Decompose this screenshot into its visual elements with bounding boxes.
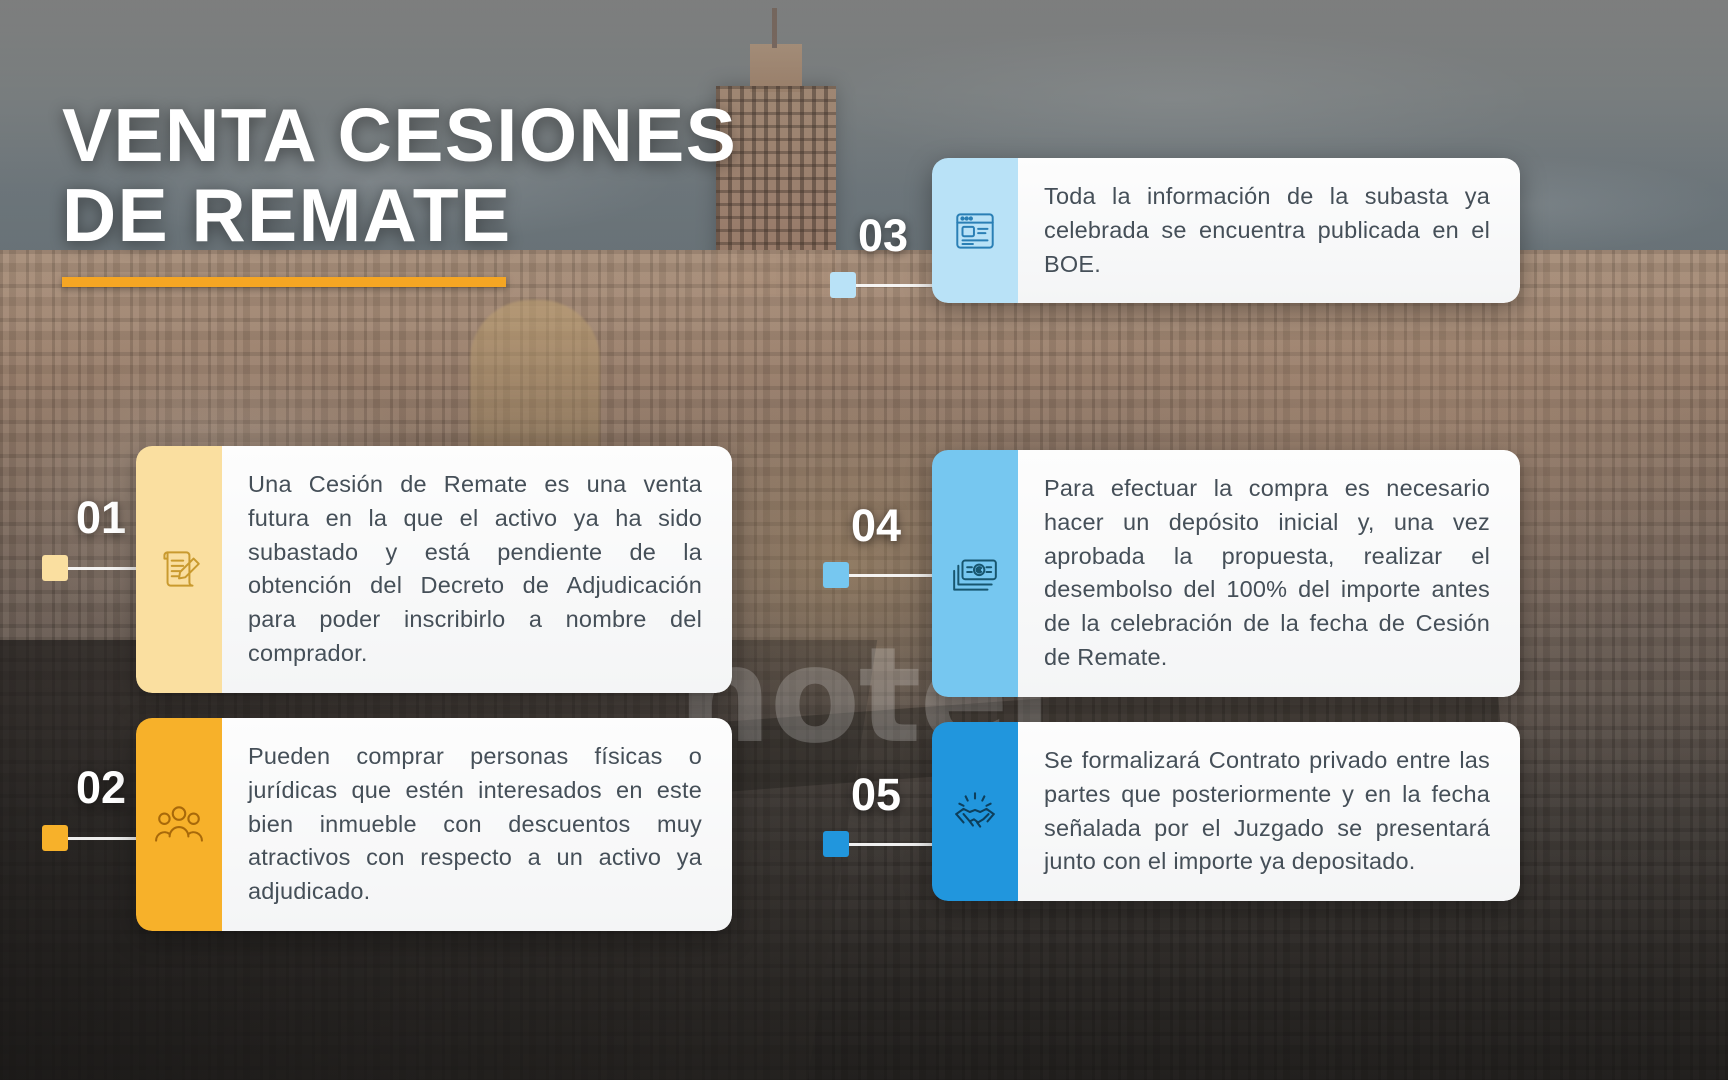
step-marker-05: 05 <box>845 772 945 858</box>
marker-dot-02 <box>42 825 68 851</box>
info-card-03[interactable]: Toda la información de la subasta ya cel… <box>932 158 1520 303</box>
step-number-01: 01 <box>76 495 126 540</box>
scroll-pencil-icon <box>154 544 204 594</box>
card-03-text: Toda la información de la subasta ya cel… <box>1044 180 1490 281</box>
infographic-slide: hotel VENTA CESIONES DE REMATE 01 <box>0 0 1728 1080</box>
card-01-body: Una Cesión de Remate es una venta futura… <box>222 446 732 693</box>
step-number-03: 03 <box>858 213 908 258</box>
card-04-body: Para efectuar la compra es necesario hac… <box>1018 450 1520 697</box>
browser-window-icon <box>950 206 1000 256</box>
card-02-body: Pueden comprar personas físicas o jurídi… <box>222 718 732 931</box>
card-05-body: Se formalizará Contrato privado entre la… <box>1018 722 1520 901</box>
info-card-01[interactable]: Una Cesión de Remate es una venta futura… <box>136 446 732 693</box>
handshake-icon <box>950 787 1000 837</box>
title-line-2: DE REMATE <box>62 176 737 256</box>
people-group-icon <box>154 800 204 850</box>
card-02-icon-pane <box>136 718 222 931</box>
card-03-body: Toda la información de la subasta ya cel… <box>1018 158 1520 303</box>
info-card-04[interactable]: Para efectuar la compra es necesario hac… <box>932 450 1520 697</box>
marker-dot-01 <box>42 555 68 581</box>
info-card-05[interactable]: Se formalizará Contrato privado entre la… <box>932 722 1520 901</box>
card-04-text: Para efectuar la compra es necesario hac… <box>1044 472 1490 675</box>
card-01-text: Una Cesión de Remate es una venta futura… <box>248 468 702 671</box>
step-number-02: 02 <box>76 765 126 810</box>
step-number-04: 04 <box>851 503 901 548</box>
card-01-icon-pane <box>136 446 222 693</box>
info-card-02[interactable]: Pueden comprar personas físicas o jurídi… <box>136 718 732 931</box>
marker-dot-05 <box>823 831 849 857</box>
page-title: VENTA CESIONES DE REMATE <box>62 96 737 287</box>
card-05-icon-pane <box>932 722 1018 901</box>
card-05-text: Se formalizará Contrato privado entre la… <box>1044 744 1490 879</box>
step-marker-04: 04 <box>845 503 945 589</box>
title-line-1: VENTA CESIONES <box>62 96 737 176</box>
title-underline <box>62 277 506 287</box>
marker-dot-04 <box>823 562 849 588</box>
card-04-icon-pane <box>932 450 1018 697</box>
step-number-05: 05 <box>851 772 901 817</box>
marker-dot-03 <box>830 272 856 298</box>
card-02-text: Pueden comprar personas físicas o jurídi… <box>248 740 702 909</box>
banknotes-euro-icon <box>950 548 1000 598</box>
card-03-icon-pane <box>932 158 1018 303</box>
